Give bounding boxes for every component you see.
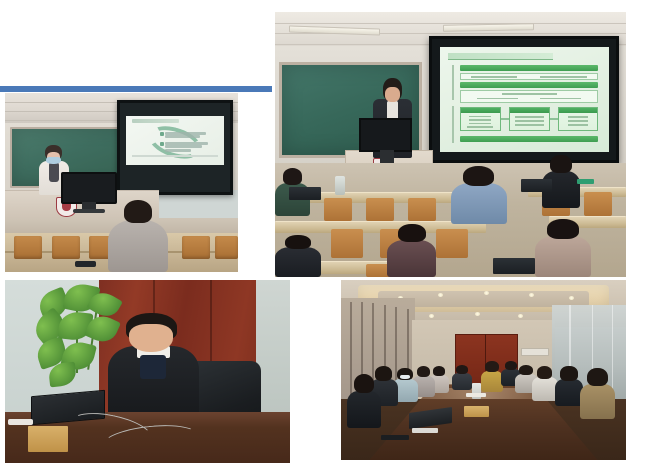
photo-top-right (275, 12, 626, 277)
presentation-slide (440, 47, 609, 151)
table-object (412, 428, 438, 433)
desk-object (75, 261, 96, 266)
attendee-figure (535, 219, 591, 277)
chair (182, 236, 210, 259)
meeting-participant (452, 365, 472, 390)
collage-page (0, 0, 649, 475)
chair (52, 236, 80, 259)
attendee-figure (387, 224, 436, 277)
meeting-participant (347, 374, 381, 428)
slide-subrow (460, 73, 598, 80)
presentation-slide (126, 116, 223, 166)
blue-divider-bar (0, 86, 272, 92)
chair (14, 236, 42, 259)
photo-top-left (5, 93, 238, 272)
wooden-box (28, 426, 68, 452)
slide-panel (558, 107, 599, 131)
chair (584, 192, 612, 216)
photo-bottom-right (341, 280, 626, 460)
ceiling-grid-line (275, 23, 626, 24)
chair (366, 198, 394, 222)
slide-banner-row (460, 82, 598, 88)
slide-text-line (165, 135, 200, 138)
slide-left-bracket (452, 65, 454, 100)
slide-panel (460, 107, 501, 131)
slide-footer-banner (460, 136, 598, 142)
lectern-monitor (359, 118, 412, 152)
slide-panel (509, 107, 550, 131)
ceiling-spotlight (518, 314, 523, 318)
chair (215, 236, 238, 259)
ceiling-spotlight (438, 293, 443, 297)
meeting-participant (555, 366, 584, 406)
slide-subrow (460, 90, 598, 104)
attendee-figure (275, 235, 321, 277)
desk-object (577, 179, 595, 184)
seated-man-figure (108, 313, 199, 423)
ceiling-spotlight (484, 291, 489, 295)
wall-sign (521, 348, 550, 355)
slide-footer-rule (132, 155, 218, 157)
desktop-monitor (61, 172, 117, 204)
slide-text-line (165, 145, 202, 148)
wall-display (117, 100, 234, 195)
thermos-bottle (335, 176, 346, 195)
table-object (381, 435, 410, 440)
slide-banner-row (460, 65, 598, 71)
attendee-figure (108, 200, 169, 272)
slide-title-bar (448, 53, 553, 60)
monitor-base (73, 209, 106, 213)
monitor-stand (380, 150, 394, 163)
photo-bottom-left (5, 280, 290, 463)
slide-bullet (160, 142, 164, 146)
laptop (289, 187, 321, 200)
desk-object (8, 419, 34, 424)
laptop (521, 179, 553, 192)
chair (324, 198, 352, 222)
chair (436, 229, 468, 258)
slide-bullet (160, 132, 164, 136)
meeting-participant (580, 368, 614, 418)
slide-text-line (165, 149, 190, 152)
wooden-box (464, 406, 490, 417)
sweater (140, 355, 166, 379)
laptop (493, 258, 535, 274)
projection-screen (429, 36, 619, 163)
chair (408, 198, 436, 222)
chair (331, 229, 363, 258)
slide-left-bracket (452, 106, 454, 144)
ceiling-spotlight (529, 293, 534, 297)
attendee-figure (451, 166, 507, 224)
table-object (466, 393, 486, 397)
slide-header-bar (132, 119, 179, 123)
meeting-participant (532, 366, 558, 400)
